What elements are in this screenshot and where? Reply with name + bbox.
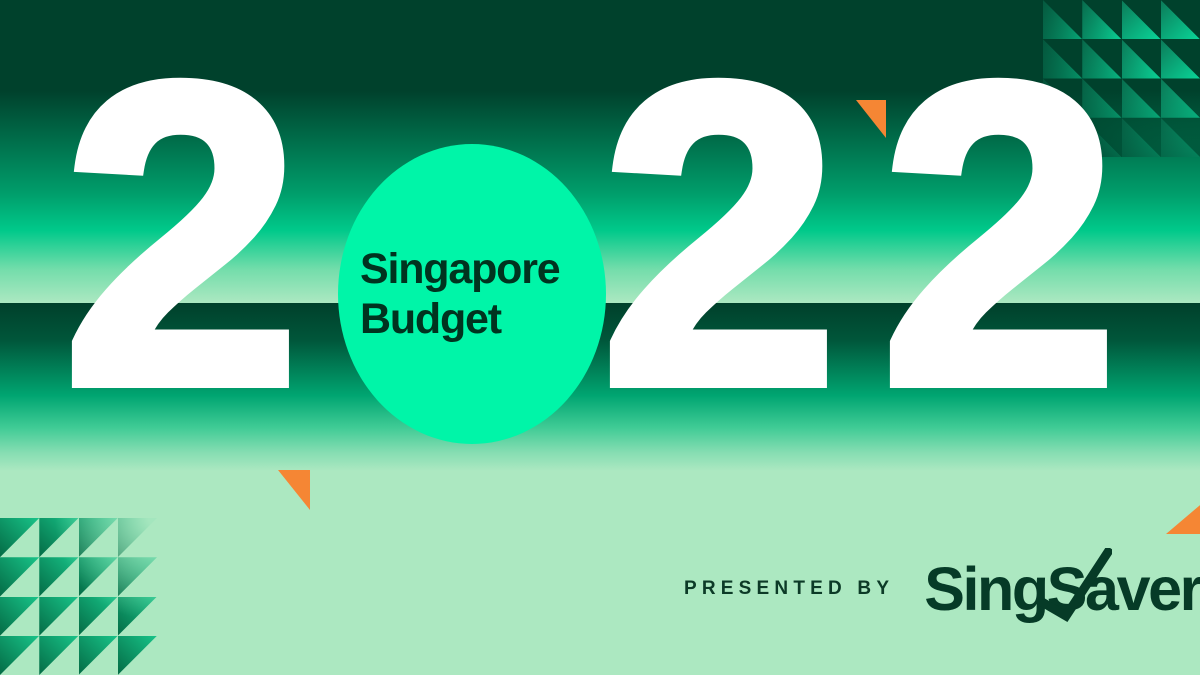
- triangle-grid-bottom-left: [0, 518, 157, 675]
- triangle-tile: [79, 518, 118, 557]
- presented-by-label: PRESENTED BY: [684, 578, 894, 600]
- triangle-tile: [0, 518, 39, 557]
- badge-title-line-2: Budget: [360, 294, 501, 344]
- triangle-tile: [118, 518, 157, 557]
- triangle-tile: [39, 557, 78, 596]
- triangle-tile: [118, 636, 157, 675]
- triangle-tile: [1122, 0, 1161, 39]
- triangle-tile: [79, 557, 118, 596]
- year-digit-4: 2: [880, 20, 1105, 450]
- triangle-tile: [1161, 118, 1200, 157]
- triangle-tile: [1122, 118, 1161, 157]
- triangle-tile: [118, 597, 157, 636]
- triangle-tile: [39, 518, 78, 557]
- triangle-tile: [0, 557, 39, 596]
- triangle-tile: [1122, 79, 1161, 118]
- singsaver-logo: SingSaver: [924, 552, 1200, 626]
- triangle-tile: [79, 636, 118, 675]
- year-digit-1: 2: [62, 20, 287, 450]
- singsaver-wordmark: SingSaver: [924, 552, 1200, 626]
- year-digit-3: 2: [600, 20, 825, 450]
- triangle-tile: [79, 597, 118, 636]
- footer-presented-by: PRESENTED BY SingSaver: [684, 552, 1200, 626]
- triangle-tile: [1161, 79, 1200, 118]
- triangle-tile: [1161, 39, 1200, 78]
- triangle-tile: [118, 557, 157, 596]
- singapore-budget-badge: Singapore Budget: [338, 144, 606, 444]
- triangle-tile: [0, 597, 39, 636]
- triangle-tile: [39, 597, 78, 636]
- poster-canvas: 2 2 2 Singapore Budget PRESENTED BY Sing…: [0, 0, 1200, 675]
- triangle-tile: [39, 636, 78, 675]
- triangle-tile: [1161, 0, 1200, 39]
- badge-title-line-1: Singapore: [360, 244, 559, 294]
- triangle-tile: [1122, 39, 1161, 78]
- triangle-tile: [0, 636, 39, 675]
